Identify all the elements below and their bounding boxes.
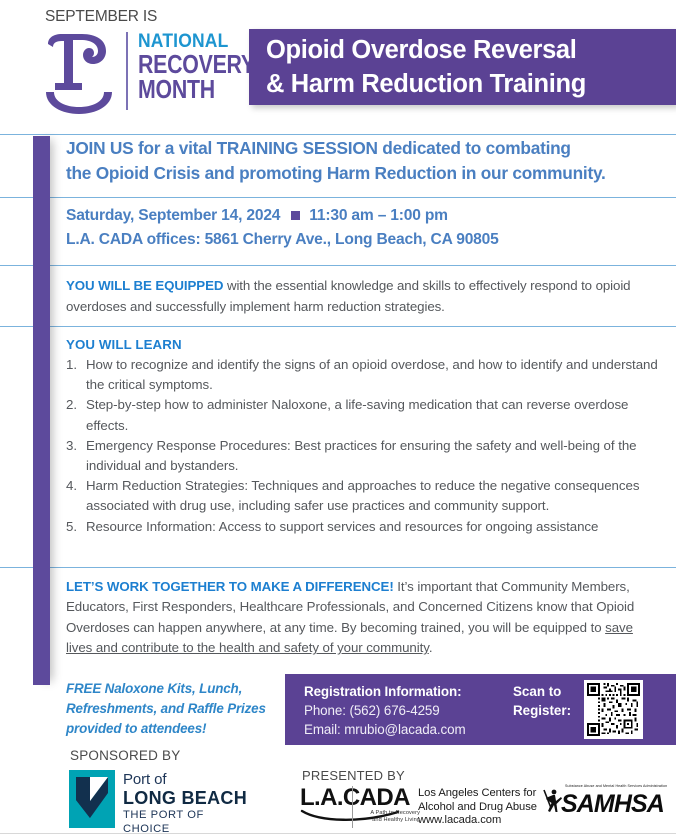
- event-details: Saturday, September 14, 202411:30 am – 1…: [66, 204, 666, 252]
- event-location: L.A. CADA offices: 5861 Cherry Ave., Lon…: [66, 231, 499, 248]
- lacada-divider: [352, 786, 353, 828]
- cta-heading: LET’S WORK TOGETHER TO MAKE A DIFFERENCE…: [66, 579, 394, 594]
- list-item-text: Resource Information: Access to support …: [86, 519, 598, 534]
- list-item-text: How to recognize and identify the signs …: [86, 357, 658, 392]
- event-time: 11:30 am – 1:00 pm: [309, 207, 448, 224]
- divider-rule-2: [0, 197, 676, 198]
- lead-line-2: the Opioid Crisis and promoting Harm Red…: [66, 163, 606, 183]
- port-line-2: LONG BEACH: [123, 788, 249, 808]
- lead-paragraph: JOIN US for a vital TRAINING SESSION ded…: [66, 136, 666, 185]
- equipped-heading: YOU WILL BE EQUIPPED: [66, 278, 223, 293]
- equipped-paragraph: YOU WILL BE EQUIPPED with the essential …: [66, 275, 666, 317]
- flyer-title-box: Opioid Overdose Reversal & Harm Reductio…: [249, 29, 676, 105]
- list-item: 3. Emergency Response Procedures: Best p…: [66, 436, 666, 476]
- left-purple-accent-bar: [33, 136, 50, 685]
- qr-code[interactable]: [584, 680, 643, 739]
- list-item: 2. Step-by-step how to administer Naloxo…: [66, 395, 666, 435]
- scan-to-label-line2: Register:: [513, 703, 571, 718]
- port-of-long-beach-logo: Port of LONG BEACH THE PORT OF CHOICE: [69, 770, 249, 828]
- cta-period: .: [429, 640, 433, 655]
- lacada-tagline-line1: A Path to Recovery: [370, 810, 420, 817]
- port-chevron-icon: [69, 770, 115, 828]
- lacada-tagline: A Path to Recovery and Healthy Living: [370, 810, 420, 824]
- bottom-edge-line: [0, 833, 676, 834]
- samhsa-wordmark: SAMHSA: [561, 790, 664, 819]
- samhsa-agency-name: Substance Abuse and Mental Health Servic…: [565, 784, 671, 789]
- you-will-learn-heading: YOU WILL LEARN: [66, 337, 182, 352]
- logo-month-text: MONTH: [138, 77, 228, 102]
- september-is-label: SEPTEMBER IS: [45, 8, 157, 26]
- event-date: Saturday, September 14, 2024: [66, 207, 280, 224]
- list-item-number: 2.: [66, 395, 77, 415]
- list-item-text: Step-by-step how to administer Naloxone,…: [86, 397, 628, 432]
- divider-rule-3: [0, 265, 676, 266]
- lead-line-1-rest: for a vital TRAINING SESSION dedicated t…: [133, 138, 570, 158]
- divider-rule-5: [0, 567, 676, 568]
- port-of-long-beach-wordmark: Port of LONG BEACH THE PORT OF CHOICE: [123, 771, 249, 836]
- title-line-2: & Harm Reduction Training: [266, 67, 676, 101]
- list-item-text: Harm Reduction Strategies: Techniques an…: [86, 478, 639, 513]
- lacada-description: Los Angeles Centers for Alcohol and Drug…: [418, 787, 537, 828]
- list-item-number: 3.: [66, 436, 77, 456]
- list-item-number: 4.: [66, 476, 77, 496]
- list-item: 5. Resource Information: Access to suppo…: [66, 517, 666, 537]
- bullet-square-icon: [291, 211, 300, 220]
- lacada-desc-line2: Alcohol and Drug Abuse: [418, 801, 537, 815]
- flyer-page: SEPTEMBER IS NATIONAL RECOVERY MONTH Opi…: [0, 0, 676, 837]
- registration-title: Registration Information:: [304, 684, 461, 699]
- list-item-text: Emergency Response Procedures: Best prac…: [86, 438, 637, 473]
- you-will-learn-list: 1. How to recognize and identify the sig…: [66, 355, 666, 537]
- samhsa-figure-icon: [543, 788, 563, 814]
- samhsa-logo: Substance Abuse and Mental Health Servic…: [543, 784, 671, 824]
- port-line-3: THE PORT OF CHOICE: [123, 808, 249, 836]
- flyer-header: SEPTEMBER IS NATIONAL RECOVERY MONTH Opi…: [0, 0, 676, 128]
- list-item: 1. How to recognize and identify the sig…: [66, 355, 666, 395]
- lead-join-us: JOIN US: [66, 138, 133, 158]
- lacada-desc-line1: Los Angeles Centers for: [418, 787, 537, 801]
- registration-info-box: Registration Information: Phone: (562) 6…: [285, 674, 676, 745]
- logo-divider: [126, 32, 128, 110]
- list-item-number: 5.: [66, 517, 77, 537]
- free-offer-text: FREE Naloxone Kits, Lunch, Refreshments,…: [66, 679, 276, 739]
- title-line-1: Opioid Overdose Reversal: [266, 29, 676, 67]
- national-recovery-month-r-mark: [42, 28, 120, 114]
- sponsored-by-label: SPONSORED BY: [70, 748, 180, 763]
- list-item: 4. Harm Reduction Strategies: Techniques…: [66, 476, 666, 516]
- scan-to-label-line1: Scan to: [513, 684, 561, 699]
- lacada-tagline-line2: and Healthy Living: [370, 817, 420, 824]
- call-to-action-paragraph: LET’S WORK TOGETHER TO MAKE A DIFFERENCE…: [66, 577, 662, 659]
- presented-by-label: PRESENTED BY: [302, 768, 405, 783]
- port-line-1: Port of: [123, 771, 249, 788]
- registration-email[interactable]: Email: mrubio@lacada.com: [304, 722, 466, 737]
- registration-phone[interactable]: Phone: (562) 676-4259: [304, 703, 440, 718]
- divider-rule-4: [0, 326, 676, 327]
- list-item-number: 1.: [66, 355, 77, 375]
- lacada-logo: L.A.CADA A Path to Recovery and Healthy …: [300, 786, 420, 830]
- national-recovery-month-wordmark: NATIONAL RECOVERY MONTH: [138, 32, 248, 102]
- lacada-url[interactable]: www.lacada.com: [418, 814, 537, 828]
